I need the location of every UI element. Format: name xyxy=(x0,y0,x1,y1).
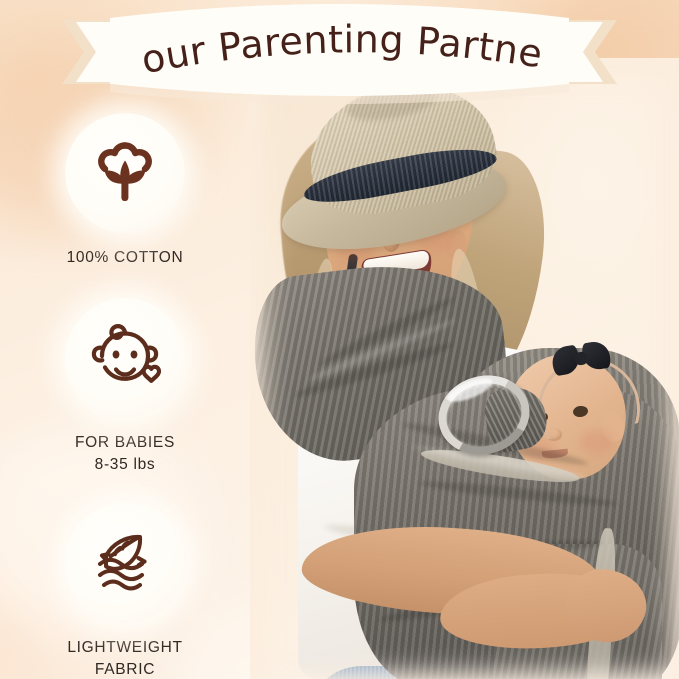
infographic-page: Your Parenting Partner 100% COTTON xyxy=(0,0,679,679)
feature-label-line: FOR BABIES xyxy=(0,432,250,454)
feature-label-line: 8-35 lbs xyxy=(0,454,250,476)
feature-lightweight: LIGHTWEIGHT FABRIC xyxy=(0,503,250,679)
feature-label-line: LIGHTWEIGHT xyxy=(0,637,250,659)
feather-fabric-icon xyxy=(82,525,168,601)
feature-label: LIGHTWEIGHT FABRIC xyxy=(0,637,250,679)
feature-label-line: 100% COTTON xyxy=(0,247,250,269)
ribbon-band xyxy=(110,4,569,96)
photo-scene xyxy=(250,58,679,679)
feature-label: FOR BABIES 8-35 lbs xyxy=(0,432,250,476)
feature-label-line: FABRIC xyxy=(0,659,250,679)
baby-cheek xyxy=(580,430,614,454)
feature-badge-circle xyxy=(65,298,185,418)
baby-face-heart-icon xyxy=(82,318,168,398)
feature-babies: FOR BABIES 8-35 lbs xyxy=(0,298,250,476)
product-photo xyxy=(250,58,679,679)
cotton-boll-icon xyxy=(84,132,166,214)
feature-label: 100% COTTON xyxy=(0,247,250,269)
feature-cotton: 100% COTTON xyxy=(0,113,250,269)
feature-badge-circle xyxy=(65,113,185,233)
feature-badge-circle xyxy=(65,503,185,623)
title-banner xyxy=(0,0,679,112)
